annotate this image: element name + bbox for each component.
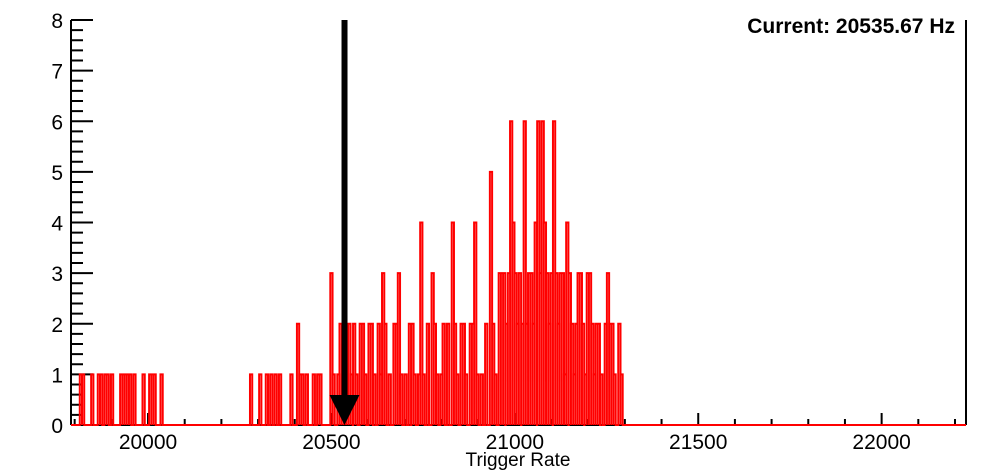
y-tick-label: 7: [51, 61, 63, 84]
y-tick-label: 1: [51, 364, 63, 387]
y-tick-label: 8: [51, 10, 63, 33]
histogram-outline: [71, 121, 966, 425]
trigger-rate-histogram: 2000020500210002150022000012345678 Trigg…: [0, 0, 996, 472]
x-tick-label: 22000: [852, 431, 910, 454]
x-tick-label: 21500: [669, 431, 727, 454]
y-tick-label: 2: [51, 314, 63, 337]
current-rate-label: Current: 20535.67 Hz: [747, 15, 955, 38]
chart-canvas: 2000020500210002150022000012345678 Trigg…: [0, 0, 996, 472]
x-axis-title: Trigger Rate: [466, 450, 571, 471]
y-tick-label: 0: [51, 415, 63, 438]
y-tick-label: 6: [51, 111, 63, 134]
histogram-series: [71, 121, 966, 425]
x-tick-label: 20500: [302, 431, 360, 454]
y-tick-label: 5: [51, 162, 63, 185]
x-tick-label: 20000: [119, 431, 177, 454]
y-tick-label: 4: [51, 213, 63, 236]
y-tick-label: 3: [51, 263, 63, 286]
